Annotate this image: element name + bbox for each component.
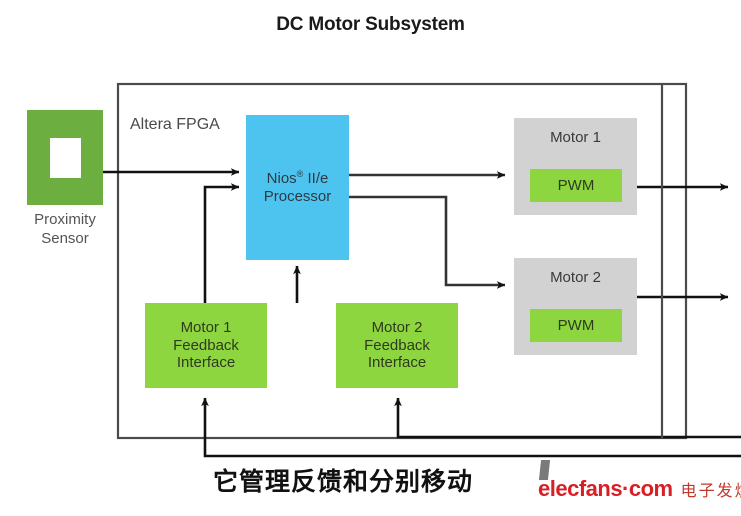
watermark-site-name-cn: 电子发烧友 — [681, 477, 741, 501]
motor-1-label: Motor 1 — [550, 129, 601, 147]
watermark: elecfans·com 电子发烧友 — [538, 476, 741, 502]
altera-fpga-label: Altera FPGA — [130, 116, 220, 134]
proximity-sensor-label: Proximity Sensor — [13, 211, 117, 249]
proximity-sensor-aperture-icon — [50, 138, 81, 178]
motor-1-feedback-line2: Feedback — [173, 337, 239, 355]
node-motor-2-feedback-interface[interactable]: Motor 2 Feedback Interface — [336, 303, 458, 388]
motor-1-pwm-label: PWM — [558, 177, 595, 195]
motor-2-pwm-label: PWM — [558, 317, 595, 335]
node-nios-processor[interactable]: Nios® II/e Processor — [246, 115, 349, 260]
node-motor-2[interactable]: Motor 2 PWM — [514, 258, 637, 355]
motor-2-feedback-line3: Interface — [368, 354, 426, 372]
wire-fb1-to-processor — [205, 187, 239, 303]
wire-feedback-return-1 — [205, 398, 741, 456]
nios-variant: II/e — [303, 170, 328, 187]
proximity-sensor-label-line1: Proximity — [13, 211, 117, 230]
wire-processor-to-motor2 — [349, 197, 505, 285]
motor-1-feedback-line1: Motor 1 — [181, 319, 232, 337]
node-motor-1-feedback-interface[interactable]: Motor 1 Feedback Interface — [145, 303, 267, 388]
motor-1-feedback-line3: Interface — [177, 354, 235, 372]
motor-2-feedback-line1: Motor 2 — [372, 319, 423, 337]
watermark-site-name: elecfans·com — [538, 476, 673, 502]
proximity-sensor-label-line2: Sensor — [13, 230, 117, 249]
motor-2-feedback-line2: Feedback — [364, 337, 430, 355]
motor-1-pwm-block[interactable]: PWM — [530, 169, 622, 202]
diagram-canvas: DC Motor Subsystem — [0, 0, 741, 516]
nios-processor-label-line2: Processor — [264, 188, 332, 206]
node-motor-1[interactable]: Motor 1 PWM — [514, 118, 637, 215]
node-proximity-sensor[interactable] — [27, 110, 103, 205]
wire-feedback-return-2 — [398, 398, 741, 437]
motor-2-label: Motor 2 — [550, 269, 601, 287]
chinese-caption: 它管理反馈和分别移动 — [213, 462, 473, 498]
motor-2-pwm-block[interactable]: PWM — [530, 309, 622, 342]
nios-name: Nios — [267, 170, 297, 187]
nios-processor-label-line1: Nios® II/e — [267, 169, 329, 188]
